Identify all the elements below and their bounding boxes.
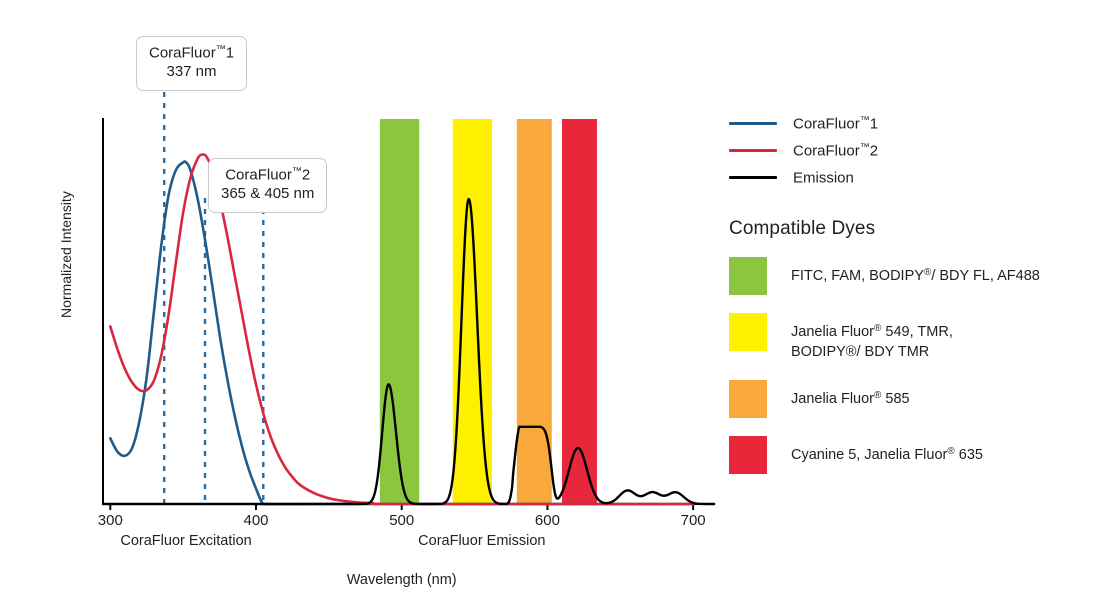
legend-series-row: CoraFluor™1	[729, 110, 1099, 137]
legend-series-swatch	[729, 122, 777, 125]
annotation-corafluor2: CoraFluor™2 365 & 405 nm	[208, 158, 327, 213]
compatible-dyes-heading: Compatible Dyes	[729, 218, 1099, 240]
x-axis-tick-label: 700	[681, 512, 706, 529]
compatible-dyes-list: FITC, FAM, BODIPY®/ BDY FL, AF488Janelia…	[729, 257, 1099, 474]
red-band	[562, 119, 597, 504]
annotation-corafluor2-line2: 365 & 405 nm	[221, 185, 314, 204]
annotation-corafluor1: CoraFluor™1 337 nm	[136, 36, 247, 91]
compatible-dye-label: Janelia Fluor® 585	[791, 380, 910, 410]
legend-series-row: Emission	[729, 164, 1099, 191]
compatible-dye-row: Cyanine 5, Janelia Fluor® 635	[729, 436, 1099, 474]
annotation-corafluor1-line2: 337 nm	[149, 63, 234, 82]
compatible-dye-swatch	[729, 380, 767, 418]
x-axis-label: Wavelength (nm)	[347, 572, 457, 588]
legend-series-row: CoraFluor™2	[729, 137, 1099, 164]
legend-series-label: Emission	[793, 169, 854, 187]
x-axis-sublabel-excitation: CoraFluor Excitation	[120, 533, 251, 549]
legend-series-label: CoraFluor™1	[793, 115, 878, 133]
annotation-corafluor2-line1: CoraFluor™2	[221, 166, 314, 185]
annotation-corafluor1-line1: CoraFluor™1	[149, 44, 234, 63]
y-axis-label: Normalized Intensity	[58, 191, 74, 318]
orange-band	[517, 119, 552, 504]
x-axis-sublabel-emission: CoraFluor Emission	[418, 533, 545, 549]
compatible-dye-swatch	[729, 436, 767, 474]
green-band	[380, 119, 419, 504]
yellow-band	[453, 119, 492, 504]
compatible-dye-row: FITC, FAM, BODIPY®/ BDY FL, AF488	[729, 257, 1099, 295]
x-axis-tick-label: 500	[389, 512, 414, 529]
compatible-dye-label: Janelia Fluor® 549, TMR, BODIPY®/ BDY TM…	[791, 313, 953, 362]
compatible-dye-swatch	[729, 257, 767, 295]
spectral-chart-figure: CoraFluor™1 337 nm CoraFluor™2 365 & 405…	[0, 0, 1110, 612]
x-axis-tick-label: 600	[535, 512, 560, 529]
legend-series-swatch	[729, 176, 777, 179]
compatible-dye-row: Janelia Fluor® 585	[729, 380, 1099, 418]
compatible-dye-label: Cyanine 5, Janelia Fluor® 635	[791, 436, 983, 466]
legend: CoraFluor™1CoraFluor™2Emission Compatibl…	[729, 110, 1099, 492]
legend-series-list: CoraFluor™1CoraFluor™2Emission	[729, 110, 1099, 191]
compatible-dye-label: FITC, FAM, BODIPY®/ BDY FL, AF488	[791, 257, 1040, 287]
legend-series-swatch	[729, 149, 777, 152]
compatible-dye-swatch	[729, 313, 767, 351]
compatible-dye-row: Janelia Fluor® 549, TMR, BODIPY®/ BDY TM…	[729, 313, 1099, 362]
legend-series-label: CoraFluor™2	[793, 142, 878, 160]
x-axis-tick-label: 400	[243, 512, 268, 529]
x-axis-tick-label: 300	[98, 512, 123, 529]
